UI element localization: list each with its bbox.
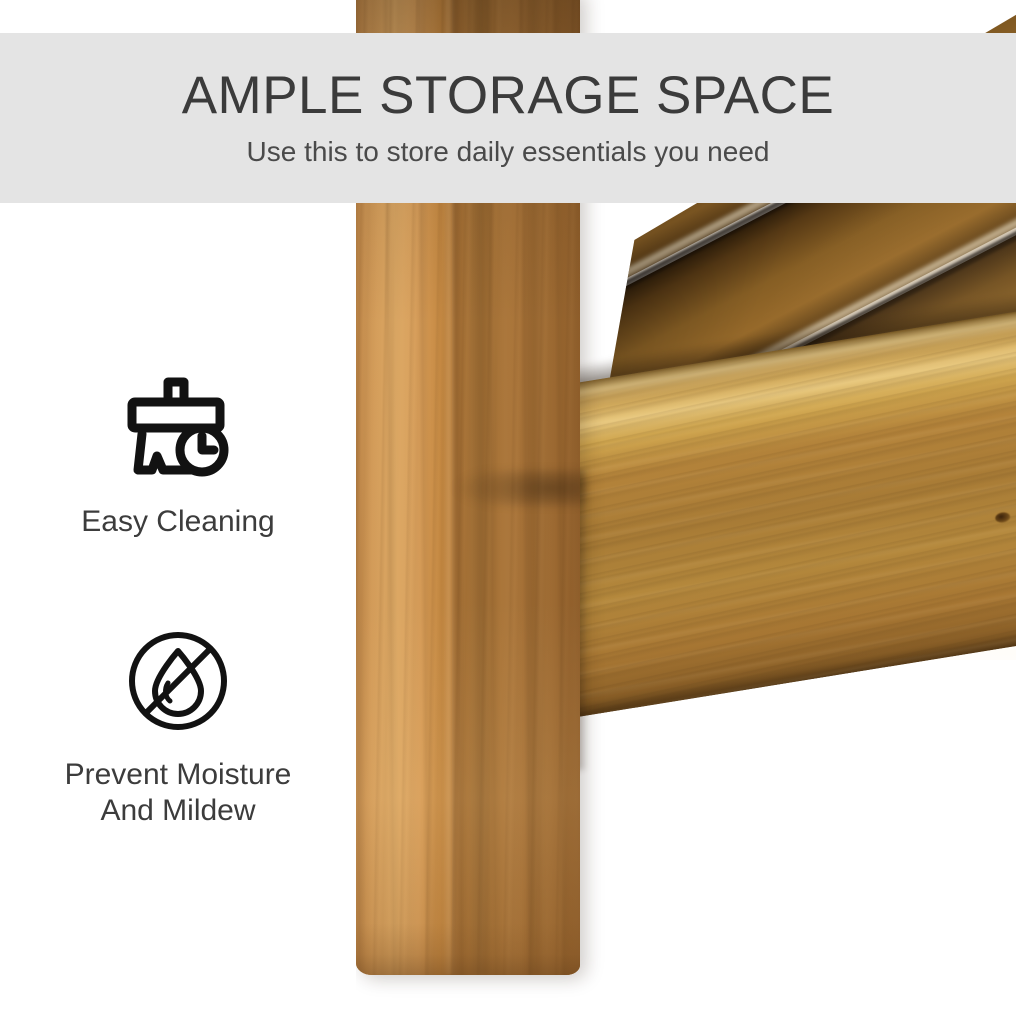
leg-foot-end <box>356 923 580 975</box>
feature-item-easy-cleaning: Easy Cleaning <box>0 372 356 539</box>
feature-label: Easy Cleaning <box>81 504 274 539</box>
photo-right-margin <box>1016 0 1024 1024</box>
headline-title: AMPLE STORAGE SPACE <box>182 68 835 124</box>
feature-list: Easy Cleaning Prevent Moisture And Milde… <box>0 372 356 828</box>
product-feature-image: AMPLE STORAGE SPACE Use this to store da… <box>0 0 1024 1024</box>
cleaning-brush-clock-icon <box>118 372 238 484</box>
leg-contact-shadow <box>356 470 586 506</box>
headline-banner: AMPLE STORAGE SPACE Use this to store da… <box>0 33 1016 203</box>
photo-bottom-margin <box>0 1010 1024 1024</box>
headline-subtitle: Use this to store daily essentials you n… <box>247 137 770 168</box>
feature-item-prevent-moisture: Prevent Moisture And Mildew <box>0 625 356 828</box>
feature-label: Prevent Moisture And Mildew <box>65 757 292 828</box>
no-water-droplet-icon <box>118 625 238 737</box>
